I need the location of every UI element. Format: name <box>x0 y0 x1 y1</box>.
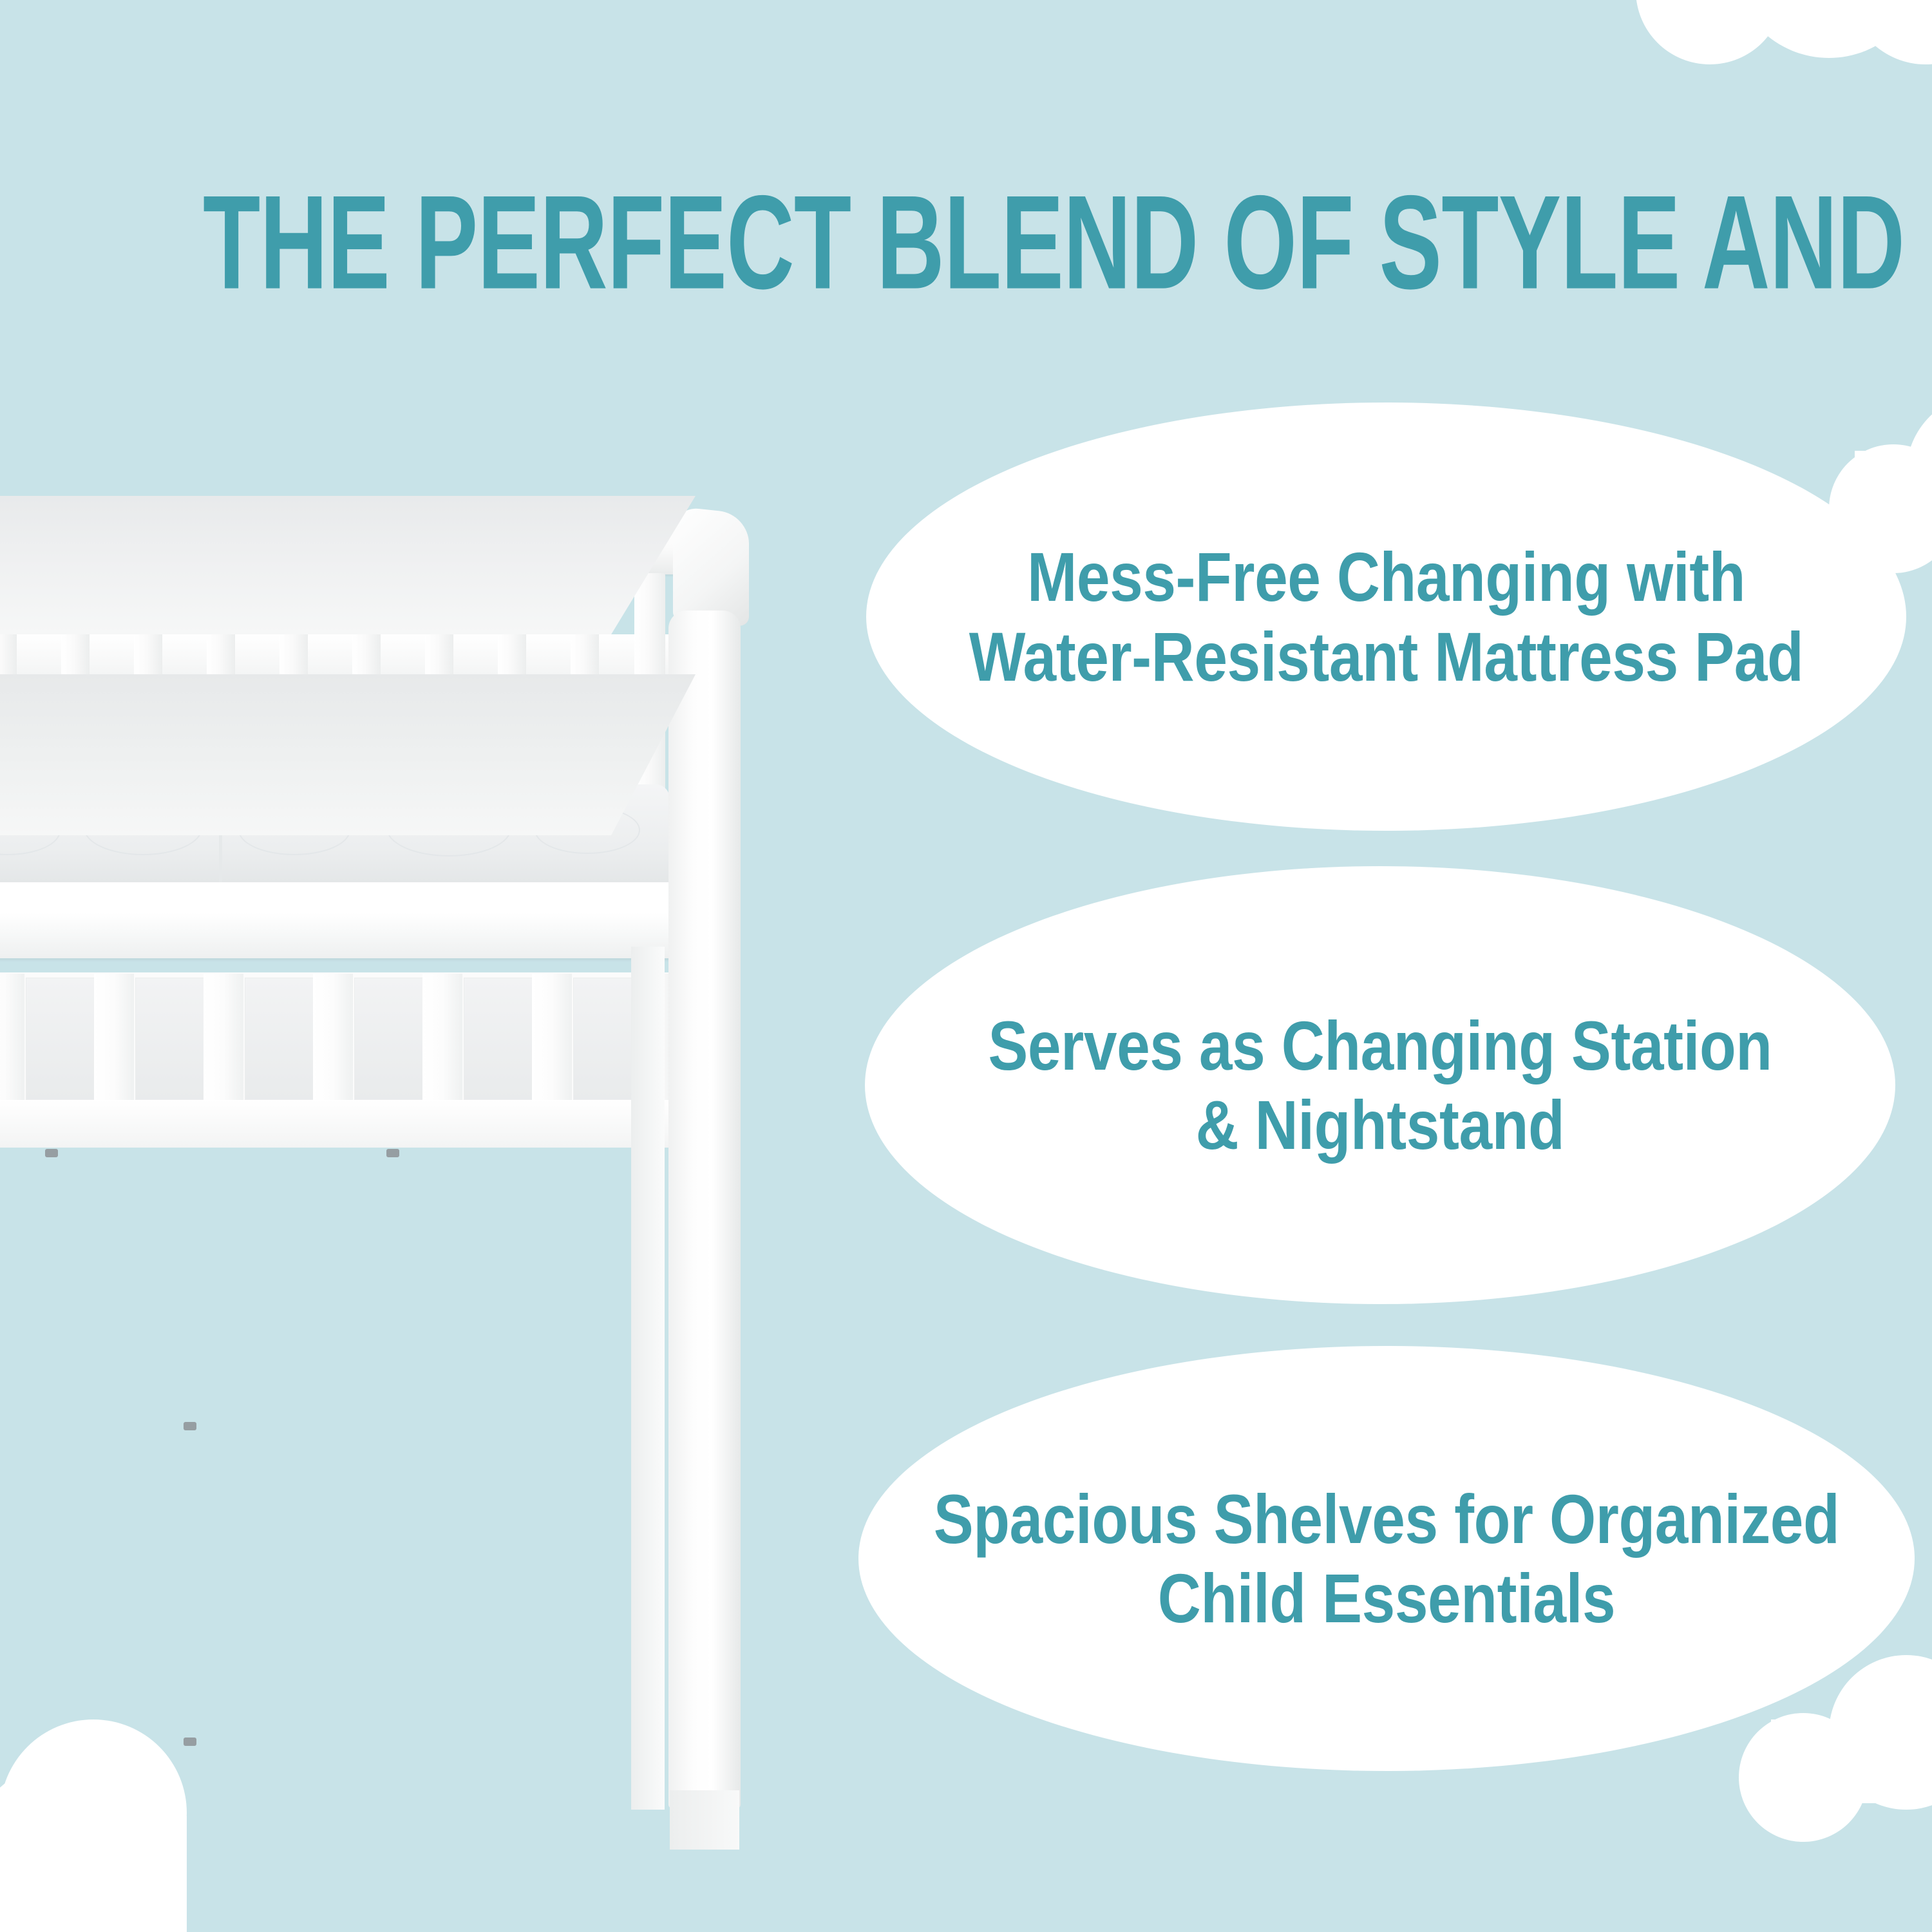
front-slat <box>204 974 243 1101</box>
front-slat <box>422 974 462 1101</box>
screw-cap <box>184 1422 196 1430</box>
front-guard-rail <box>0 882 699 958</box>
callout-line-1: Mess-Free Changing with <box>1027 538 1745 616</box>
cloud-top-right-icon <box>1636 0 1932 103</box>
callout-changing-station-nightstand: Serves as Changing Station & Nightstand <box>865 866 1895 1304</box>
front-slat <box>532 974 572 1101</box>
slat-gap <box>354 978 423 1100</box>
callout-spacious-shelves: Spacious Shelves for Organized Child Ess… <box>858 1346 1915 1771</box>
top-rail-cap <box>673 506 749 627</box>
callout-line-2: Water-Resistant Mattress Pad <box>969 618 1804 696</box>
callout-text: Spacious Shelves for Organized Child Ess… <box>933 1479 1841 1638</box>
callout-line-2: Child Essentials <box>1158 1559 1616 1637</box>
promo-banner: THE PERFECT BLEND OF STYLE AND FUNCTIONA… <box>0 0 1932 1932</box>
front-slat <box>94 974 134 1101</box>
product-image <box>0 496 844 1848</box>
screw-cap <box>45 1149 58 1157</box>
front-slat <box>313 974 353 1101</box>
callout-mess-free-changing: Mess-Free Changing with Water-Resistant … <box>866 402 1906 831</box>
right-post-foot <box>670 1790 739 1850</box>
callout-text: Serves as Changing Station & Nightstand <box>937 1006 1823 1164</box>
callout-line-1: Spacious Shelves for Organized <box>934 1480 1840 1558</box>
slat-gap <box>245 978 314 1100</box>
screw-cap <box>386 1149 399 1157</box>
band-bottom-rail <box>0 1100 699 1148</box>
slat-gap <box>464 978 533 1100</box>
screw-cap <box>184 1738 196 1746</box>
middle-shelf-surface <box>0 496 696 634</box>
callout-line-2: & Nightstand <box>1196 1086 1565 1164</box>
callout-text: Mess-Free Changing with Water-Resistant … <box>939 537 1833 696</box>
front-slat <box>0 974 24 1101</box>
callout-line-1: Serves as Changing Station <box>988 1007 1772 1084</box>
page-title: THE PERFECT BLEND OF STYLE AND FUNCTIONA… <box>203 176 1729 310</box>
bottom-shelf-surface <box>0 674 696 835</box>
slat-gap <box>135 978 204 1100</box>
slat-gap <box>26 978 95 1100</box>
right-side-post <box>668 611 741 1808</box>
